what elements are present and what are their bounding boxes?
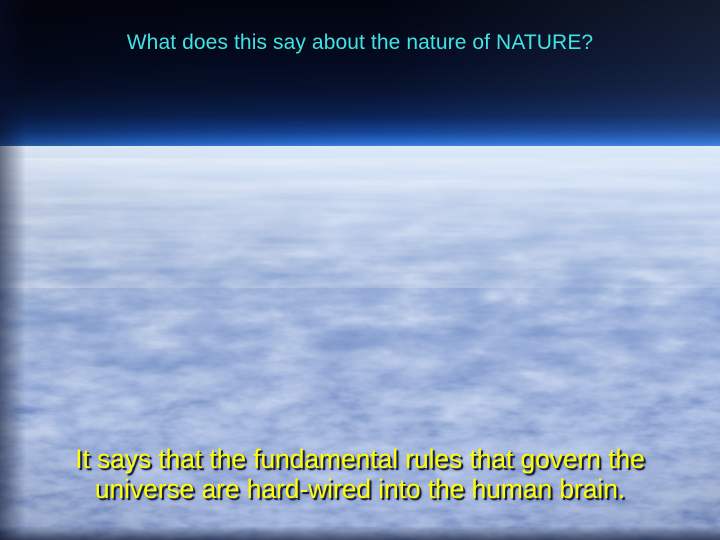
earth-limb-curve xyxy=(0,96,720,186)
body-line-2: universe are hard-wired into the human b… xyxy=(36,474,684,504)
presentation-slide: What does this say about the nature of N… xyxy=(0,0,720,540)
slide-body-text: It says that the fundamental rules that … xyxy=(36,444,684,504)
cloud-wisps xyxy=(0,158,720,288)
horizon-glow xyxy=(0,118,720,188)
slide-title: What does this say about the nature of N… xyxy=(0,30,720,56)
atmospheric-haze xyxy=(0,146,720,296)
foreground-terrain-detail xyxy=(0,330,720,540)
body-line-1: It says that the fundamental rules that … xyxy=(36,444,684,474)
